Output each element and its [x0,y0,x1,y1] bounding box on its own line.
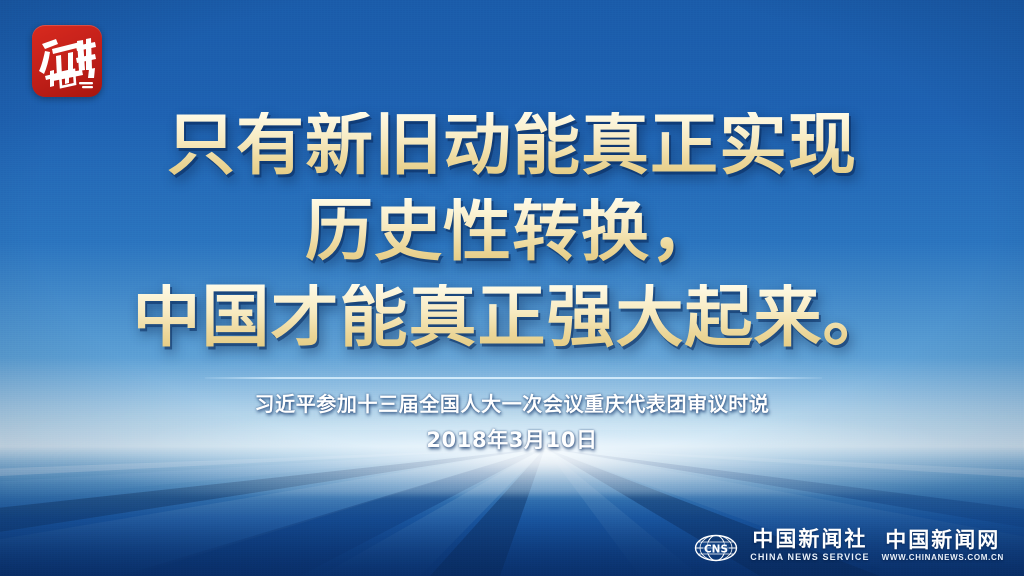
brand-chinanews-web: 中国新闻网 WWW.CHINANEWS.COM.CN [882,529,1004,562]
headline-line-2: 历史性转换， [0,198,1024,266]
brand-en-label-2: WWW.CHINANEWS.COM.CN [882,553,1004,562]
footer-brand-group: CNS 中国新闻社 CHINA NEWS SERVICE 中国新闻网 WWW.C… [694,528,1004,562]
divider-rule [205,377,822,379]
attribution-source: 习近平参加十三届全国人大一次会议重庆代表团审议时说 [0,388,1024,417]
attribution-date: 2018年3月10日 [0,424,1024,454]
headline-line-1: 只有新旧动能真正实现 [0,112,1024,180]
attribution: 习近平参加十三届全国人大一次会议重庆代表团审议时说 2018年3月10日 [0,388,1024,454]
headline-line-3: 中国才能真正强大起来。 [0,284,1024,352]
brand-en-label-1: CHINA NEWS SERVICE [750,552,869,562]
headline: 只有新旧动能真正实现 历史性转换， 中国才能真正强大起来。 [0,112,1024,352]
brand-cn-label-2: 中国新闻网 [885,529,1000,551]
jinguan-zhongguo-logo[interactable] [32,25,102,97]
brand-china-news-service: 中国新闻社 CHINA NEWS SERVICE [750,528,869,562]
brand-cn-label-1: 中国新闻社 [752,528,867,550]
poster-canvas: 只有新旧动能真正实现 历史性转换， 中国才能真正强大起来。 习近平参加十三届全国… [0,0,1024,576]
cns-globe-label: CNS [704,543,728,555]
cns-globe-icon: CNS [694,534,738,562]
